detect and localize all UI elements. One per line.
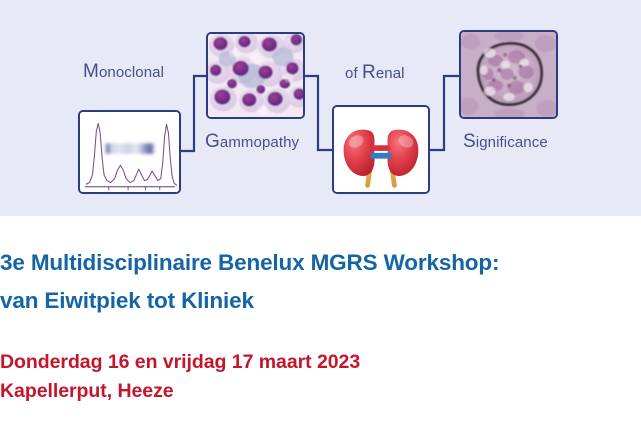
event-venue: Kapellerput, Heeze <box>0 380 641 403</box>
caption-monoclonal: Monoclonal <box>83 64 164 81</box>
connector-1-2 <box>181 76 207 151</box>
plasma-cell-bone-marrow-micrograph <box>208 34 303 117</box>
event-date: Donderdag 16 en vrijdag 17 maart 2023 <box>0 351 641 374</box>
caption-significance: Significance <box>463 134 548 151</box>
caption-of-renal: of Renal <box>345 65 405 82</box>
caption-of-renal-rest: enal <box>376 65 405 82</box>
glomerulus-histology-micrograph <box>461 32 556 117</box>
image-box-plasma-cells <box>206 32 305 119</box>
caption-significance-initial: S <box>463 131 476 152</box>
connector-2-3 <box>305 76 332 150</box>
caption-gammopathy-rest: ammopathy <box>220 134 299 151</box>
serum-protein-electrophoresis-trace <box>80 112 179 192</box>
caption-of-renal-prefix: of <box>345 65 362 82</box>
image-box-electrophoresis <box>78 110 181 194</box>
caption-monoclonal-rest: onoclonal <box>99 64 164 81</box>
caption-of-renal-initial: R <box>362 62 376 83</box>
caption-monoclonal-initial: M <box>83 61 99 82</box>
mgrs-workshop-poster: Monoclonal <box>0 0 641 430</box>
kidneys-illustration <box>334 107 428 192</box>
workshop-title-line-2: van Eiwitpiek tot Kliniek <box>0 288 641 314</box>
image-box-glomerulus <box>459 30 558 119</box>
caption-gammopathy: Gammopathy <box>205 134 299 151</box>
workshop-title-line-1: 3e Multidisciplinaire Benelux MGRS Works… <box>0 250 641 276</box>
mgrs-acronym-diagram: Monoclonal <box>0 0 641 216</box>
connector-3-4 <box>430 76 459 150</box>
caption-gammopathy-initial: G <box>205 131 220 152</box>
image-box-kidneys <box>332 105 430 194</box>
caption-significance-rest: ignificance <box>476 134 548 151</box>
